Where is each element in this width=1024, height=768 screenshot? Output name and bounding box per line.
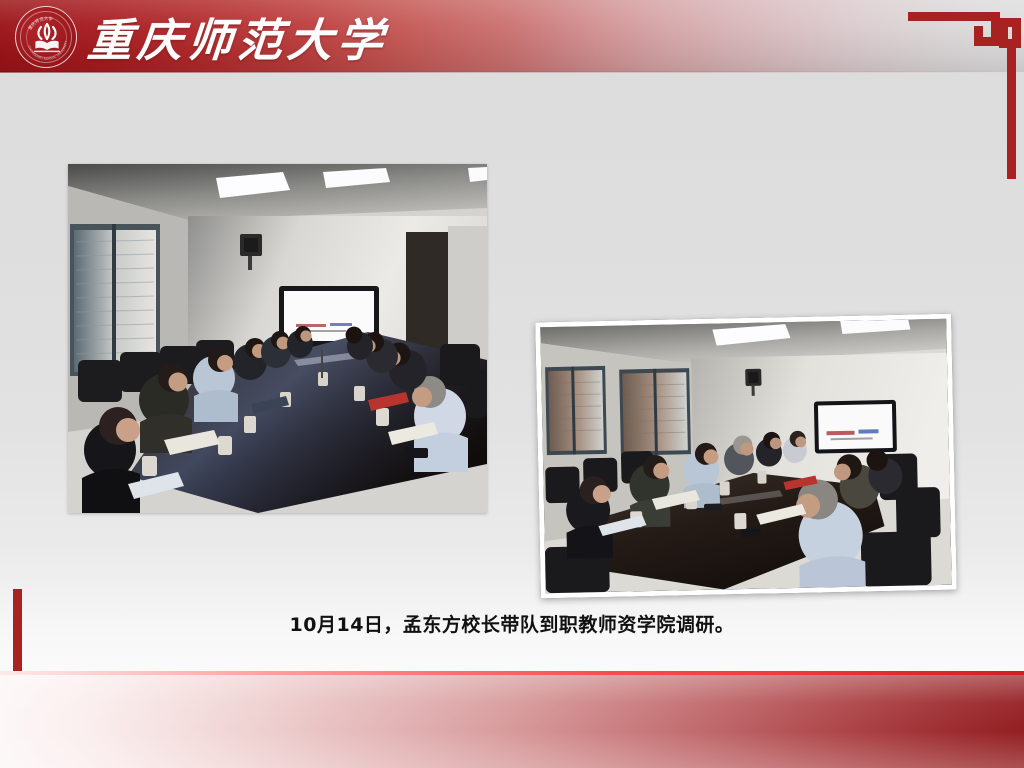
university-title: 重庆师范大学 xyxy=(88,4,388,68)
meeting-photo-main xyxy=(68,164,487,513)
meeting-photo-secondary xyxy=(535,314,957,599)
corner-ornament-top-right xyxy=(904,8,1024,183)
university-seal-icon: 重庆师范大学 CHONGQING NORMAL UNIVERSITY xyxy=(15,6,77,68)
meeting-photo-main-scene xyxy=(68,164,487,513)
header-bottom-edge xyxy=(0,71,1024,73)
slide-caption: 10月14日，孟东方校长带队到职教师资学院调研。 xyxy=(0,610,1024,637)
meeting-photo-secondary-scene xyxy=(540,319,951,593)
seal-emblem-icon: 重庆师范大学 CHONGQING NORMAL UNIVERSITY xyxy=(16,7,77,68)
presentation-slide: 重庆师范大学 CHONGQING NORMAL UNIVERSITY 重庆师 xyxy=(0,0,1024,768)
footer-sheen xyxy=(0,675,1024,768)
university-title-text: 重庆师范大学 xyxy=(85,4,391,69)
